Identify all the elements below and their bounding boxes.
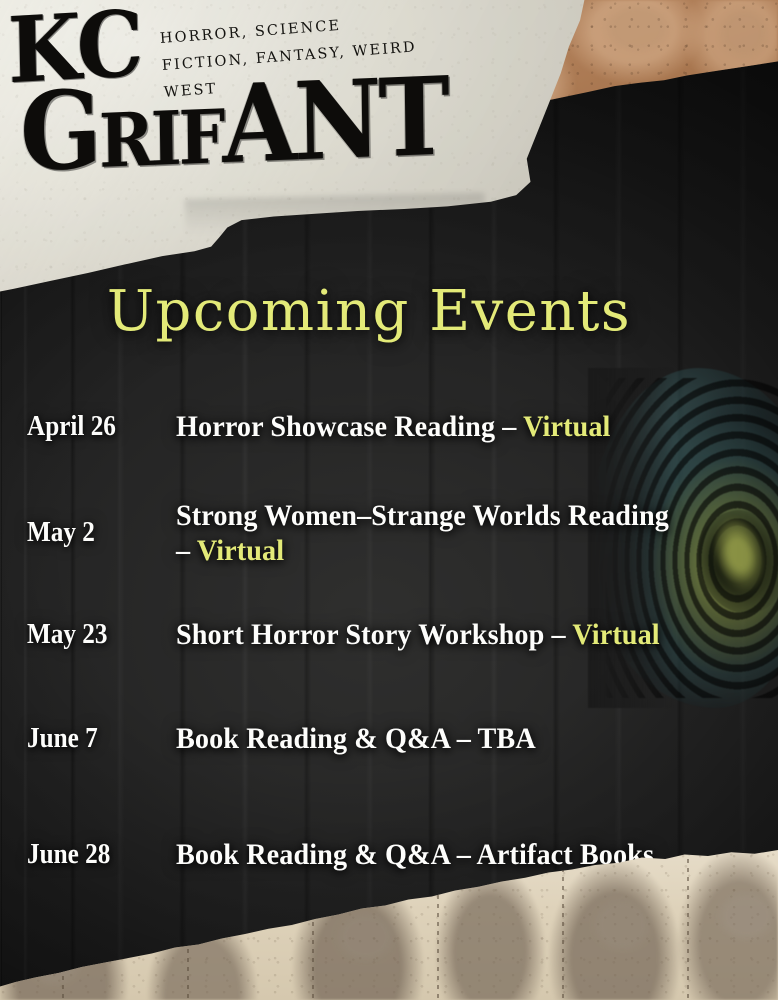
event-date: June 7 [0,724,158,755]
page-title: Upcoming Events [0,284,738,340]
event-title-text: Book Reading & Q&A – TBA [176,722,536,755]
event-title-text: Short Horror Story Workshop – [176,618,572,651]
events-list: April 26 Horror Showcase Reading – Virtu… [0,384,778,898]
event-date: June 28 [0,840,158,871]
event-date: May 2 [0,518,158,549]
event-title-text: Horror Showcase Reading – [176,410,523,443]
event-format-badge: Virtual [523,410,610,443]
event-date: May 23 [0,620,158,651]
event-format-badge: Virtual [572,618,659,651]
event-row: May 23 Short Horror Story Workshop – Vir… [0,592,778,678]
event-row: May 2 Strong Women–Strange Worlds Readin… [0,490,778,576]
event-row: April 26 Horror Showcase Reading – Virtu… [0,384,778,470]
event-date: April 26 [0,412,158,443]
event-poster: KC GRIFANT HORROR, SCIENCE FICTION, FANT… [0,0,778,1000]
event-title: Short Horror Story Workshop – Virtual [176,617,742,652]
event-title: Book Reading & Q&A – TBA [176,721,742,756]
event-title: Strong Women–Strange Worlds Reading – Vi… [176,498,742,569]
event-title: Horror Showcase Reading – Virtual [176,409,742,444]
event-format-badge: Virtual [197,534,284,567]
event-row: June 7 Book Reading & Q&A – TBA [0,696,778,782]
brand-grifant-g: G [19,66,99,196]
event-title-text: Book Reading & Q&A – Artifact Books [176,838,654,871]
brand-grifant-rif: RIF [99,92,224,184]
